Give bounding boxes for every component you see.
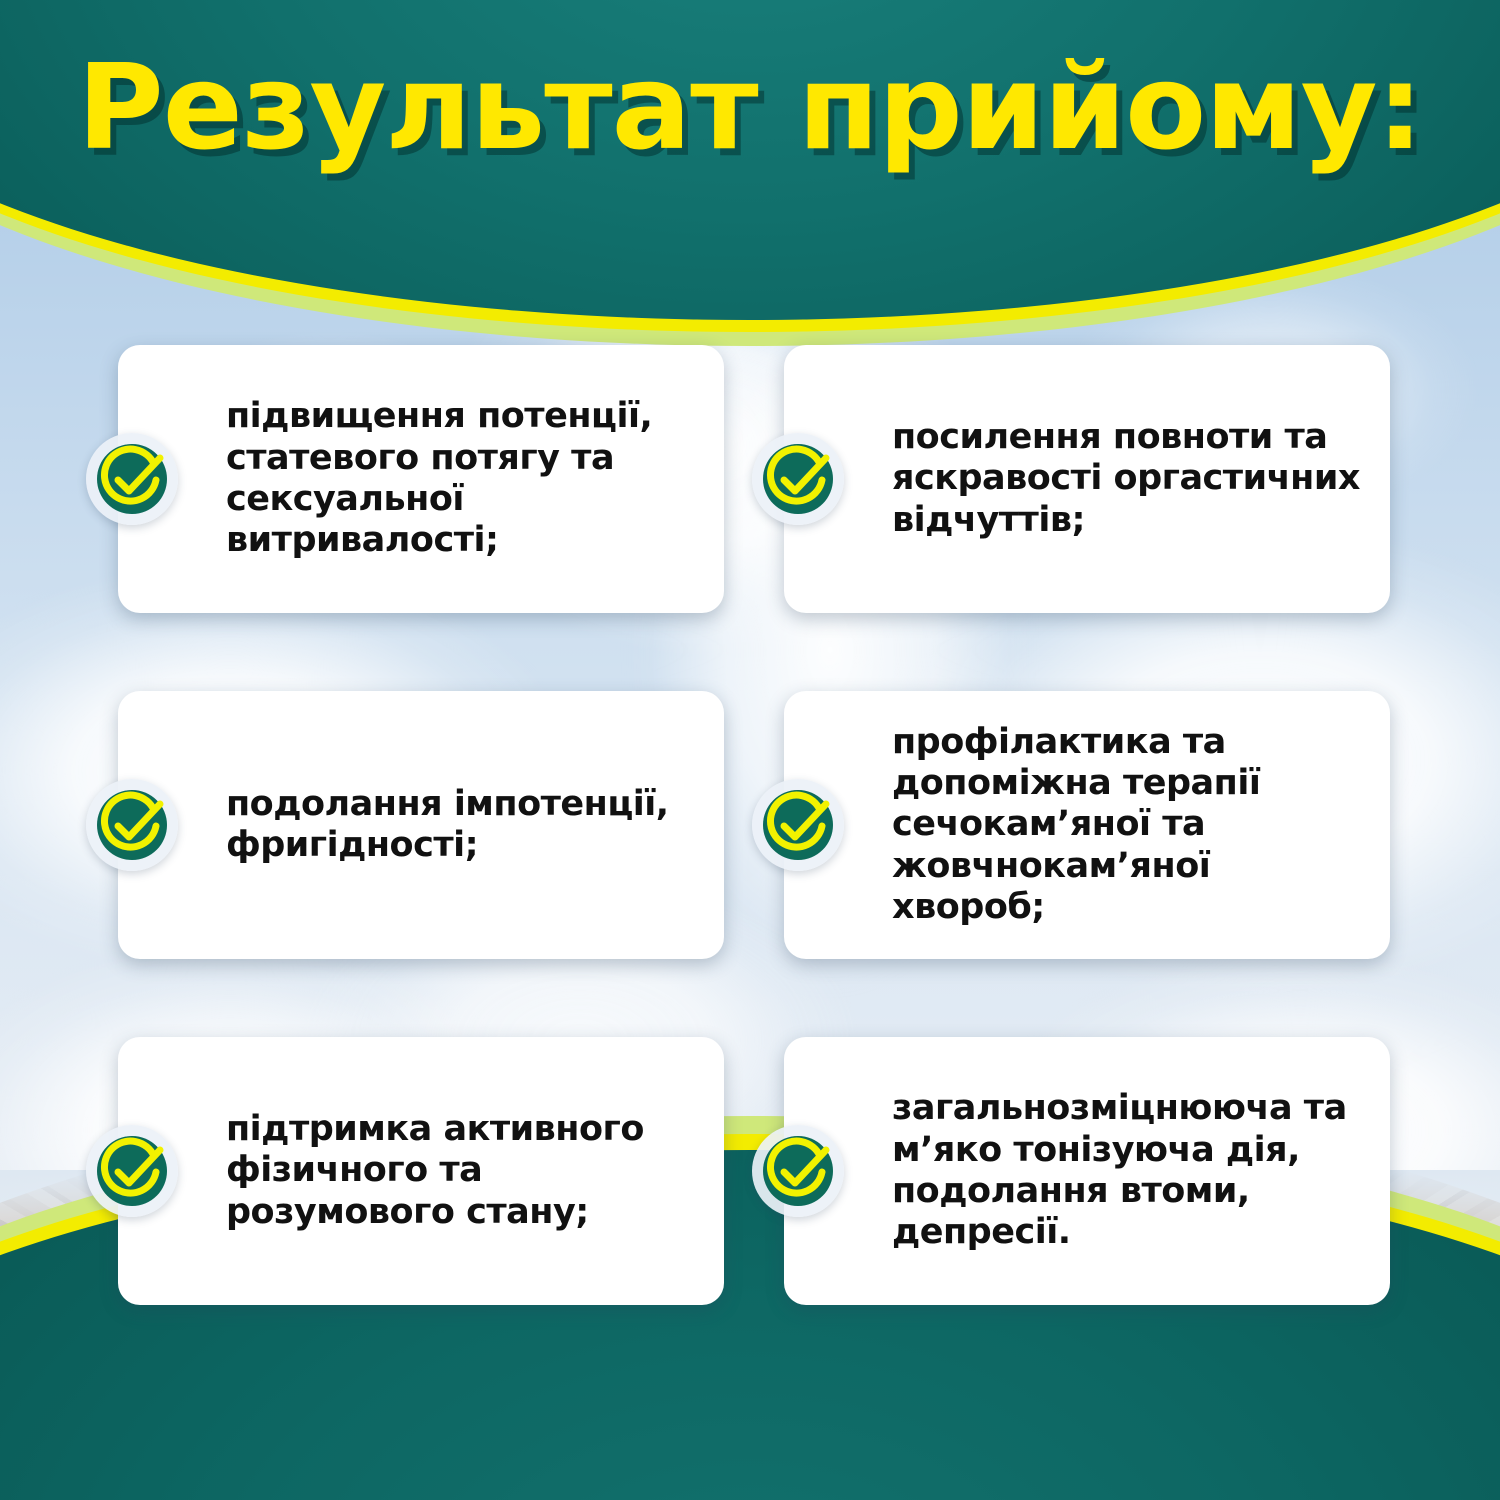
benefit-card-slot: загальнозміцнююча та м’яко тонізуюча дія… <box>784 1037 1390 1305</box>
check-circle-icon <box>752 1125 844 1217</box>
check-circle-icon <box>86 1125 178 1217</box>
benefit-text: підтримка активного фізичного та розумов… <box>226 1109 702 1233</box>
check-circle-icon <box>86 433 178 525</box>
check-circle-icon <box>752 779 844 871</box>
benefit-card-slot: посилення повноти та яскравості оргастич… <box>784 345 1390 613</box>
page-title: Результат прийому: <box>0 48 1500 166</box>
benefit-text: подолання імпотенції, фригідності; <box>226 784 702 867</box>
benefit-card[interactable]: підвищення потенції, статевого потягу та… <box>118 345 724 613</box>
poster-canvas: Результат прийому: підвищення потенції, … <box>0 0 1500 1500</box>
benefit-card-slot: підвищення потенції, статевого потягу та… <box>118 345 724 613</box>
benefit-text: профілактика та допоміжна терапії сечока… <box>892 722 1368 928</box>
benefits-grid: підвищення потенції, статевого потягу та… <box>118 345 1390 1305</box>
benefit-card-slot: профілактика та допоміжна терапії сечока… <box>784 691 1390 959</box>
benefit-text: підвищення потенції, статевого потягу та… <box>226 396 702 561</box>
check-circle-icon <box>86 779 178 871</box>
benefit-card-slot: підтримка активного фізичного та розумов… <box>118 1037 724 1305</box>
benefit-card[interactable]: посилення повноти та яскравості оргастич… <box>784 345 1390 613</box>
benefit-card[interactable]: профілактика та допоміжна терапії сечока… <box>784 691 1390 959</box>
benefit-card[interactable]: загальнозміцнююча та м’яко тонізуюча дія… <box>784 1037 1390 1305</box>
benefit-card[interactable]: підтримка активного фізичного та розумов… <box>118 1037 724 1305</box>
benefit-card-slot: подолання імпотенції, фригідності; <box>118 691 724 959</box>
benefit-card[interactable]: подолання імпотенції, фригідності; <box>118 691 724 959</box>
check-circle-icon <box>752 433 844 525</box>
benefit-text: посилення повноти та яскравості оргастич… <box>892 417 1368 541</box>
benefit-text: загальнозміцнююча та м’яко тонізуюча дія… <box>892 1088 1368 1253</box>
